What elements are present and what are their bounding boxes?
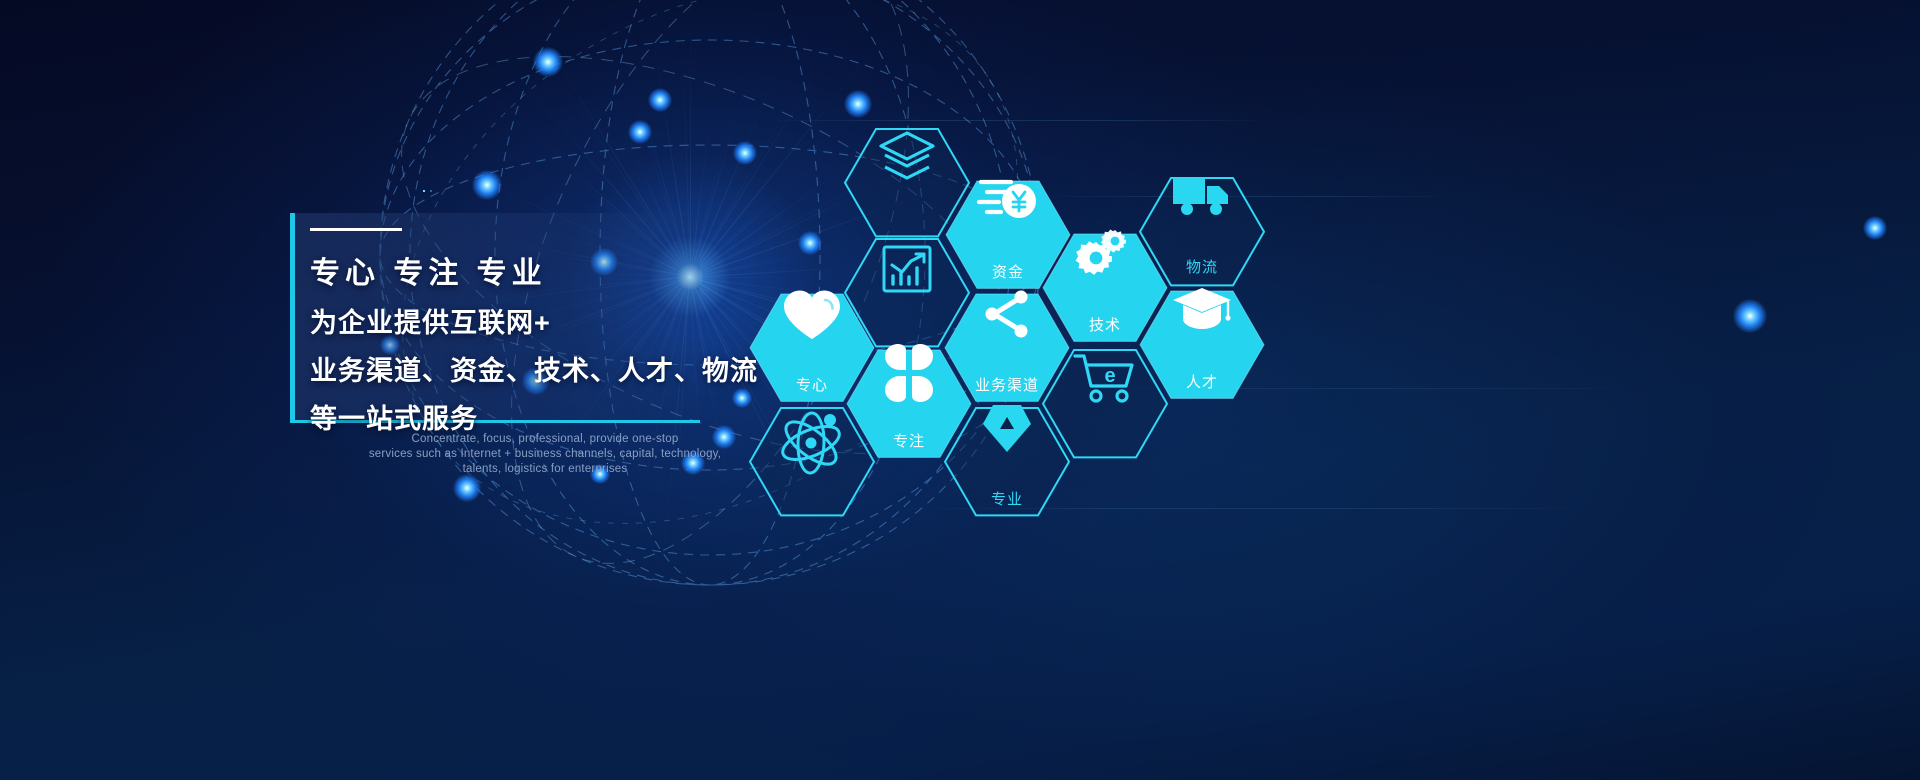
particle-dot [423, 190, 425, 192]
particle-dot [423, 190, 425, 192]
particle-dot [423, 190, 425, 192]
svg-text:e: e [1104, 365, 1115, 387]
particle-dot [423, 190, 425, 192]
particle-dot [423, 190, 425, 192]
particle-dot [423, 190, 425, 192]
particle-dot [423, 190, 425, 192]
particle-dot [423, 190, 425, 192]
particle-dot [423, 190, 425, 192]
particle-dot [423, 190, 425, 192]
caption-line-1: Concentrate, focus, professional, provid… [300, 432, 790, 447]
particle-dot [423, 190, 425, 192]
particle-dot [423, 190, 425, 192]
particle-dot [423, 190, 425, 192]
particle-dot [423, 190, 425, 192]
particle-dot [423, 190, 425, 192]
particle-dot [423, 190, 425, 192]
particle-dot [423, 190, 425, 192]
particle-dot [423, 190, 425, 192]
particle-dot [423, 190, 425, 192]
particle-dot [423, 190, 425, 192]
particle-dot [423, 190, 425, 192]
particle-dot [423, 190, 425, 192]
particle-dot [423, 190, 425, 192]
particle-dot [423, 190, 425, 192]
particle-dot [423, 190, 425, 192]
particle-dot [423, 190, 425, 192]
particle-dot [423, 190, 425, 192]
headline-line-2: 为企业提供互联网+ [310, 301, 1070, 340]
particle-dot [423, 190, 425, 192]
particle-dot [423, 190, 425, 192]
particle-dot [423, 190, 425, 192]
particle-dot [423, 190, 425, 192]
particle-dot [423, 190, 425, 192]
particle-dot [423, 190, 425, 192]
particle-dot [423, 190, 425, 192]
particle-dot [423, 190, 425, 192]
particle-dot [423, 190, 425, 192]
particle-dot [423, 190, 425, 192]
particle-dot [423, 190, 425, 192]
headline-line-3: 业务渠道、资金、技术、人才、物流 [310, 349, 1070, 388]
particle-dot [423, 190, 425, 192]
particle-dot [423, 190, 425, 192]
particle-dot [423, 190, 425, 192]
particle-dot [423, 190, 425, 192]
particle-dot [423, 190, 425, 192]
particle-dot [423, 190, 425, 192]
particle-dot [423, 190, 425, 192]
particle-dot [423, 190, 425, 192]
particle-dot [423, 190, 425, 192]
headline-rule [310, 228, 402, 231]
glow-node [472, 170, 503, 201]
particle-dot [423, 190, 425, 192]
particle-dot [423, 190, 425, 192]
particle-dot [423, 190, 425, 192]
particle-dot [423, 190, 425, 192]
particle-dot [423, 190, 425, 192]
particle-dot [423, 190, 425, 192]
particle-dot [423, 190, 425, 192]
truck-icon [1140, 174, 1264, 218]
particle-dot [423, 190, 425, 192]
particle-dot [423, 190, 425, 192]
hexagon-label: 人才 [1140, 371, 1264, 392]
particle-dot [423, 190, 425, 192]
particle-dot [423, 190, 425, 192]
particle-dot [423, 190, 425, 192]
particle-dot [423, 190, 425, 192]
particle-dot [423, 190, 425, 192]
particle-dot [423, 190, 425, 192]
yen-coin-icon [946, 175, 1070, 223]
particle-dot [423, 190, 425, 192]
particle-dot [423, 190, 425, 192]
particle-dot [423, 190, 425, 192]
hexagon-wuliu[interactable]: 物流 [1140, 178, 1264, 285]
particle-dot [423, 190, 425, 192]
particle-dot [430, 190, 432, 192]
particle-dot [423, 190, 425, 192]
particle-dot [423, 190, 425, 192]
particle-dot [423, 190, 425, 192]
particle-dot [423, 190, 425, 192]
particle-dot [423, 190, 425, 192]
particle-dot [423, 190, 425, 192]
particle-dot [423, 190, 425, 192]
particle-dot [423, 190, 425, 192]
particle-dot [423, 190, 425, 192]
particle-dot [423, 190, 425, 192]
particle-dot [423, 190, 425, 192]
particle-dot [423, 190, 425, 192]
particle-dot [423, 190, 425, 192]
particle-dot [423, 190, 425, 192]
particle-dot [423, 190, 425, 192]
particle-dot [423, 190, 425, 192]
particle-dot [423, 190, 425, 192]
particle-dot [423, 190, 425, 192]
glow-node [1863, 216, 1887, 240]
particle-dot [423, 190, 425, 192]
particle-dot [423, 190, 425, 192]
particle-dot [423, 190, 425, 192]
particle-dot [423, 190, 425, 192]
particle-dot [423, 190, 425, 192]
particle-dot [423, 190, 425, 192]
particle-dot [423, 190, 425, 192]
particle-dot [423, 190, 425, 192]
particle-dot [423, 190, 425, 192]
particle-dot [423, 190, 425, 192]
particle-dot [423, 190, 425, 192]
particle-dot [423, 190, 425, 192]
particle-dot [423, 190, 425, 192]
particle-dot [423, 190, 425, 192]
particle-dot [423, 190, 425, 192]
particle-dot [423, 190, 425, 192]
particle-dot [423, 190, 425, 192]
particle-dot [423, 190, 425, 192]
particle-dot [423, 190, 425, 192]
particle-dot [423, 190, 425, 192]
particle-dot [423, 190, 425, 192]
particle-dot [423, 190, 425, 192]
particle-dot [423, 190, 425, 192]
glow-node [1733, 299, 1767, 333]
particle-dot [423, 190, 425, 192]
particle-dot [423, 190, 425, 192]
particle-dot [423, 190, 425, 192]
particle-dot [423, 190, 425, 192]
particle-dot [423, 190, 425, 192]
particle-dot [423, 190, 425, 192]
particle-dot [423, 190, 425, 192]
particle-dot [423, 190, 425, 192]
particle-dot [423, 190, 425, 192]
particle-dot [423, 190, 425, 192]
particle-dot [423, 190, 425, 192]
particle-dot [423, 190, 425, 192]
particle-dot [423, 190, 425, 192]
particle-dot [423, 190, 425, 192]
particle-dot [423, 190, 425, 192]
particle-dot [423, 190, 425, 192]
particle-dot [423, 190, 425, 192]
particle-dot [423, 190, 425, 192]
particle-dot [423, 190, 425, 192]
particle-dot [423, 190, 425, 192]
particle-dot [423, 190, 425, 192]
particle-dot [423, 190, 425, 192]
particle-dot [423, 190, 425, 192]
particle-dot [423, 190, 425, 192]
particle-dot [423, 190, 425, 192]
particle-dot [423, 190, 425, 192]
particle-dot [423, 190, 425, 192]
particle-dot [423, 190, 425, 192]
particle-dot [423, 190, 425, 192]
particle-dot [423, 190, 425, 192]
particle-dot [423, 190, 425, 192]
particle-dot [423, 190, 425, 192]
particle-dot [423, 190, 425, 192]
particle-dot [423, 190, 425, 192]
particle-dot [423, 190, 425, 192]
particle-dot [423, 190, 425, 192]
particle-dot [423, 190, 425, 192]
particle-dot [423, 190, 425, 192]
particle-dot [423, 190, 425, 192]
particle-dot [423, 190, 425, 192]
particle-dot [423, 190, 425, 192]
particle-dot [423, 190, 425, 192]
glow-node [628, 120, 652, 144]
particle-dot [423, 190, 425, 192]
glow-node [453, 474, 480, 501]
particle-dot [423, 190, 425, 192]
particle-dot [423, 190, 425, 192]
particle-dot [423, 190, 425, 192]
particle-dot [423, 190, 425, 192]
particle-dot [423, 190, 425, 192]
particle-dot [423, 190, 425, 192]
english-caption: Concentrate, focus, professional, provid… [300, 432, 790, 477]
particle-dot [423, 190, 425, 192]
particle-dot [423, 190, 425, 192]
particle-dot [423, 190, 425, 192]
particle-dot [423, 190, 425, 192]
glow-node [733, 141, 757, 165]
particle-dot [423, 190, 425, 192]
particle-dot [423, 190, 425, 192]
particle-dot [423, 190, 425, 192]
particle-dot [423, 190, 425, 192]
particle-dot [423, 190, 425, 192]
particle-dot [423, 190, 425, 192]
particle-dot [423, 190, 425, 192]
particle-dot [423, 190, 425, 192]
particle-dot [423, 190, 425, 192]
particle-dot [423, 190, 425, 192]
hexagon-label: 物流 [1140, 256, 1264, 277]
particle-dot [423, 190, 425, 192]
particle-dot [423, 190, 425, 192]
particle-dot [423, 190, 425, 192]
particle-dot [423, 190, 425, 192]
particle-dot [423, 190, 425, 192]
particle-dot [423, 190, 425, 192]
particle-dot [423, 190, 425, 192]
particle-dot [423, 190, 425, 192]
particle-dot [423, 190, 425, 192]
particle-dot [423, 190, 425, 192]
headline-copy: 专心 专注 专业 为企业提供互联网+ 业务渠道、资金、技术、人才、物流 等一站式… [310, 228, 1070, 436]
particle-dot [423, 190, 425, 192]
particle-dot [423, 190, 425, 192]
particle-dot [423, 190, 425, 192]
particle-dot [423, 190, 425, 192]
particle-dot [423, 190, 425, 192]
particle-dot [423, 190, 425, 192]
particle-dot [423, 190, 425, 192]
particle-dot [423, 190, 425, 192]
particle-dot [423, 190, 425, 192]
particle-dot [423, 190, 425, 192]
particle-dot [423, 190, 425, 192]
layers-icon [845, 129, 969, 185]
particle-dot [423, 190, 425, 192]
particle-dot [423, 190, 425, 192]
particle-dot [423, 190, 425, 192]
particle-dot [423, 190, 425, 192]
particle-dot [423, 190, 425, 192]
headline-line-4: 等一站式服务 [310, 397, 1070, 436]
particle-dot [423, 190, 425, 192]
particle-dot [423, 190, 425, 192]
particle-dot [423, 190, 425, 192]
hexagon-label: 专业 [945, 488, 1069, 509]
particle-dot [423, 190, 425, 192]
particle-dot [423, 190, 425, 192]
particle-dot [423, 190, 425, 192]
particle-dot [423, 190, 425, 192]
glow-node [844, 90, 871, 117]
particle-dot [423, 190, 425, 192]
particle-dot [423, 190, 425, 192]
particle-dot [423, 190, 425, 192]
particle-dot [423, 190, 425, 192]
particle-dot [423, 190, 425, 192]
particle-dot [423, 190, 425, 192]
particle-dot [423, 190, 425, 192]
banner-stage: 专心 专注 专业 为企业提供互联网+ 业务渠道、资金、技术、人才、物流 等一站式… [0, 0, 1920, 780]
particle-dot [423, 190, 425, 192]
particle-dot [423, 190, 425, 192]
particle-dot [423, 190, 425, 192]
particle-dot [423, 190, 425, 192]
particle-dot [423, 190, 425, 192]
particle-dot [423, 190, 425, 192]
caption-line-3: talents, logistics for enterprises [300, 462, 790, 477]
particle-dot [423, 190, 425, 192]
hexagon-layers[interactable] [845, 129, 969, 236]
particle-dot [423, 190, 425, 192]
particle-dot [423, 190, 425, 192]
particle-dot [423, 190, 425, 192]
particle-dot [423, 190, 425, 192]
particle-dot [423, 190, 425, 192]
particle-dot [423, 190, 425, 192]
particle-dot [423, 190, 425, 192]
particle-dot [423, 190, 425, 192]
particle-dot [423, 190, 425, 192]
headline-line-1: 专心 专注 专业 [310, 248, 1070, 292]
particle-dot [423, 190, 425, 192]
particle-dot [423, 190, 425, 192]
particle-dot [423, 190, 425, 192]
particle-dot [423, 190, 425, 192]
particle-dot [423, 190, 425, 192]
particle-dot [423, 190, 425, 192]
particle-dot [423, 190, 425, 192]
caption-line-2: services such as Internet + business cha… [300, 447, 790, 462]
particle-dot [423, 190, 425, 192]
particle-dot [423, 190, 425, 192]
particle-dot [423, 190, 425, 192]
particle-dot [423, 190, 425, 192]
particle-dot [423, 190, 425, 192]
particle-dot [423, 190, 425, 192]
particle-dot [423, 190, 425, 192]
particle-dot [423, 190, 425, 192]
particle-dot [423, 190, 425, 192]
particle-dot [423, 190, 425, 192]
particle-dot [423, 190, 425, 192]
particle-dot [423, 190, 425, 192]
particle-dot [423, 190, 425, 192]
particle-dot [423, 190, 425, 192]
particle-dot [423, 190, 425, 192]
particle-dot [423, 190, 425, 192]
hexagon-rencai[interactable]: 人才 [1140, 291, 1264, 398]
particle-dot [423, 190, 425, 192]
particle-dot [423, 190, 425, 192]
glow-node [648, 88, 672, 112]
particle-dot [423, 190, 425, 192]
graduation-cap-icon [1140, 285, 1264, 333]
particle-dot [423, 190, 425, 192]
particle-dot [423, 190, 425, 192]
particle-dot [423, 190, 425, 192]
particle-dot [423, 190, 425, 192]
particle-dot [423, 190, 425, 192]
particle-dot [423, 190, 425, 192]
glow-node [533, 47, 564, 78]
particle-dot [423, 190, 425, 192]
